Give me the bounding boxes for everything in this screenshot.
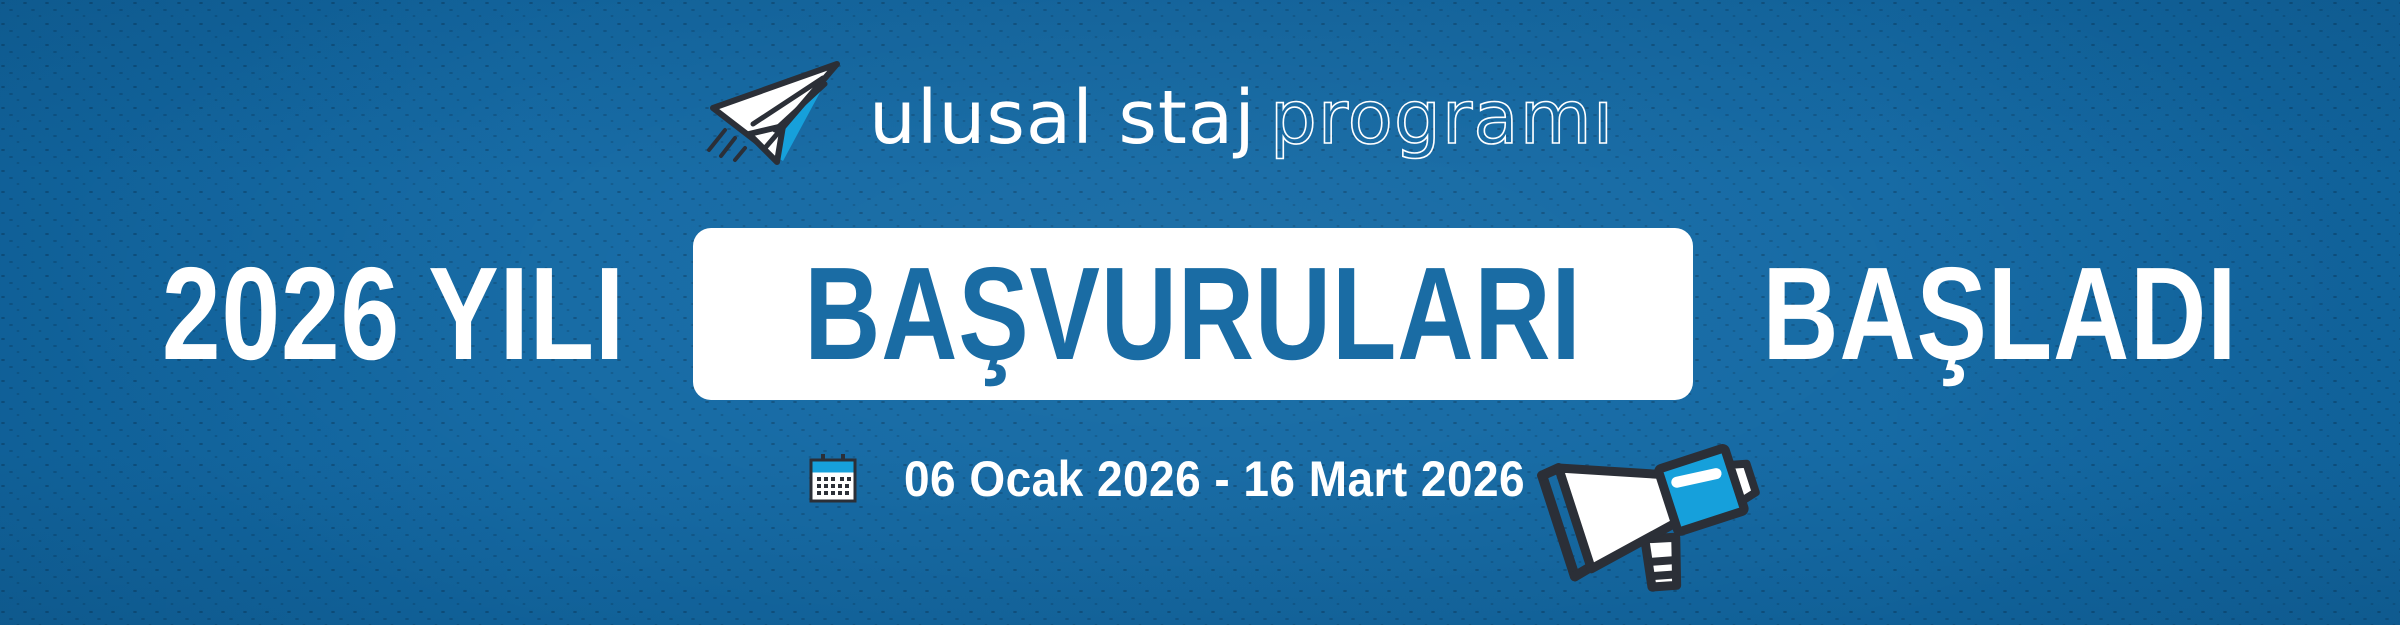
logo-lockup: ulusal staj programı [705,52,1614,172]
logo-word-primary: ulusal staj [869,81,1256,155]
date-row: 06 Ocak 2026 - 16 Mart 2026 [0,448,2380,510]
calendar-icon [807,453,859,505]
megaphone-icon [1525,418,1775,608]
promo-banner: ulusal staj programı 2026 YILI BAŞVURULA… [0,0,2400,625]
headline-highlight-box: BAŞVURULARI [693,228,1693,400]
headline-part-two: BAŞLADI [1762,228,2237,400]
headline-part-one: 2026 YILI [162,228,625,400]
headline-highlight-text: BAŞVURULARI [804,228,1581,400]
headline: 2026 YILI BAŞVURULARI BAŞLADI [0,228,2400,400]
logo-wordmark: ulusal staj programı [869,81,1614,155]
logo-word-secondary: programı [1270,81,1614,155]
date-range-label: 06 Ocak 2026 - 16 Mart 2026 [904,453,1525,505]
paper-plane-icon [705,56,853,168]
